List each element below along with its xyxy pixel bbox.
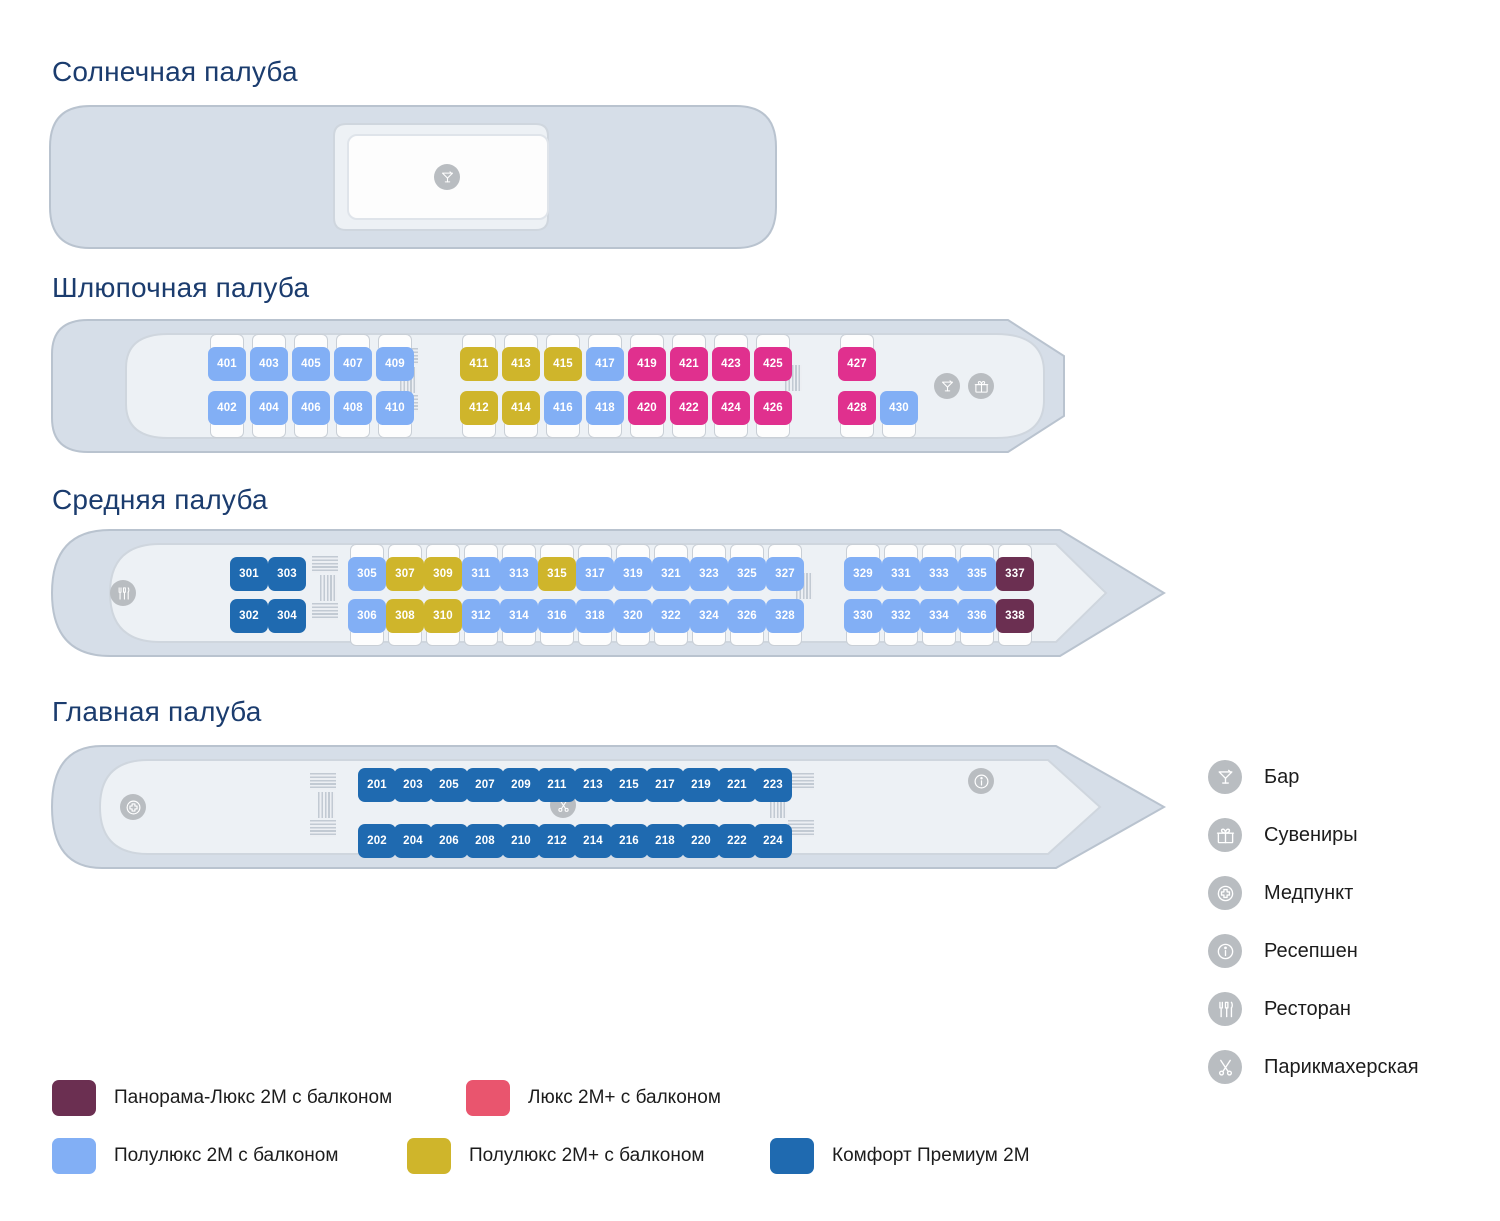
cabin-balcony — [540, 631, 574, 646]
cabin-307[interactable]: 307 — [386, 557, 424, 591]
cabin-215[interactable]: 215 — [610, 768, 648, 802]
hull-outline-sun — [48, 104, 778, 250]
deck-title-sun: Солнечная палуба — [52, 56, 298, 88]
cabin-309[interactable]: 309 — [424, 557, 462, 591]
cabin-balcony — [846, 631, 880, 646]
deck-title-main: Главная палуба — [52, 696, 262, 728]
legend-swatch — [52, 1138, 96, 1174]
facility-legend-row-restaurant: Ресторан — [1208, 980, 1419, 1038]
cabin-301[interactable]: 301 — [230, 557, 268, 591]
cabin-balcony — [714, 423, 748, 438]
reception-icon — [1208, 934, 1242, 968]
cabin-305[interactable]: 305 — [348, 557, 386, 591]
cabin-405[interactable]: 405 — [292, 347, 330, 381]
medical-icon — [1208, 876, 1242, 910]
cabin-balcony — [960, 631, 994, 646]
cabin-411[interactable]: 411 — [460, 347, 498, 381]
cabin-336[interactable]: 336 — [958, 599, 996, 633]
cabin-414[interactable]: 414 — [502, 391, 540, 425]
cabin-balcony — [252, 423, 286, 438]
legend-row-2: Полулюкс 2М с балконом Полулюкс 2М+ с ба… — [52, 1138, 1112, 1196]
cabin-balcony — [462, 423, 496, 438]
legend-label: Полулюкс 2М с балконом — [114, 1145, 338, 1167]
cabin-323[interactable]: 323 — [690, 557, 728, 591]
cabin-balcony — [210, 423, 244, 438]
souvenirs-icon — [1208, 818, 1242, 852]
cabin-balcony — [840, 423, 874, 438]
cabin-balcony — [388, 631, 422, 646]
legend-item-lux-plus[interactable]: Люкс 2М+ с балконом — [466, 1080, 721, 1116]
cabin-balcony — [692, 631, 726, 646]
cabin-308[interactable]: 308 — [386, 599, 424, 633]
legend-swatch — [466, 1080, 510, 1116]
cabin-326[interactable]: 326 — [728, 599, 766, 633]
cabin-223[interactable]: 223 — [754, 768, 792, 802]
restaurant-icon[interactable] — [110, 580, 136, 606]
legend-item-panorama-lux[interactable]: Панорама-Люкс 2М с балконом — [52, 1080, 392, 1116]
facility-legend-label: Бар — [1264, 766, 1299, 789]
cabin-424[interactable]: 424 — [712, 391, 750, 425]
facility-legend: БарСувенирыМедпунктРесепшенРесторанПарик… — [1208, 748, 1419, 1096]
stairwell-marking — [318, 792, 335, 818]
cabin-201[interactable]: 201 — [358, 768, 396, 802]
cabin-412[interactable]: 412 — [460, 391, 498, 425]
cabin-318[interactable]: 318 — [576, 599, 614, 633]
cabin-class-legend: Панорама-Люкс 2М с балконом Люкс 2М+ с б… — [52, 1080, 1112, 1196]
cabin-210[interactable]: 210 — [502, 824, 540, 858]
legend-swatch — [770, 1138, 814, 1174]
cabin-409[interactable]: 409 — [376, 347, 414, 381]
cabin-430[interactable]: 430 — [880, 391, 918, 425]
cabin-204[interactable]: 204 — [394, 824, 432, 858]
cabin-207[interactable]: 207 — [466, 768, 504, 802]
cabin-310[interactable]: 310 — [424, 599, 462, 633]
cabin-402[interactable]: 402 — [208, 391, 246, 425]
facility-legend-label: Медпункт — [1264, 882, 1353, 905]
legend-swatch — [407, 1138, 451, 1174]
cabin-407[interactable]: 407 — [334, 347, 372, 381]
legend-label: Полулюкс 2М+ с балконом — [469, 1145, 704, 1167]
cabin-balcony — [294, 423, 328, 438]
bar-icon[interactable] — [434, 164, 460, 190]
cabin-219[interactable]: 219 — [682, 768, 720, 802]
cabin-balcony — [616, 631, 650, 646]
cabin-401[interactable]: 401 — [208, 347, 246, 381]
bar-icon — [1208, 760, 1242, 794]
cabin-316[interactable]: 316 — [538, 599, 576, 633]
cabin-325[interactable]: 325 — [728, 557, 766, 591]
hairdresser-icon — [1208, 1050, 1242, 1084]
cabin-203[interactable]: 203 — [394, 768, 432, 802]
facility-legend-row-bar: Бар — [1208, 748, 1419, 806]
cabin-balcony — [756, 423, 790, 438]
cabin-417[interactable]: 417 — [586, 347, 624, 381]
cabin-balcony — [378, 423, 412, 438]
cabin-206[interactable]: 206 — [430, 824, 468, 858]
cabin-333[interactable]: 333 — [920, 557, 958, 591]
cabin-406[interactable]: 406 — [292, 391, 330, 425]
cabin-415[interactable]: 415 — [544, 347, 582, 381]
cabin-212[interactable]: 212 — [538, 824, 576, 858]
cabin-319[interactable]: 319 — [614, 557, 652, 591]
cabin-320[interactable]: 320 — [614, 599, 652, 633]
restaurant-icon — [1208, 992, 1242, 1026]
cabin-304[interactable]: 304 — [268, 599, 306, 633]
bar-icon[interactable] — [934, 373, 960, 399]
facility-legend-row-medical: Медпункт — [1208, 864, 1419, 922]
medical-icon[interactable] — [120, 794, 146, 820]
cabin-balcony — [426, 631, 460, 646]
cabin-balcony — [504, 423, 538, 438]
legend-row-1: Панорама-Люкс 2М с балконом Люкс 2М+ с б… — [52, 1080, 1112, 1138]
cabin-balcony — [730, 631, 764, 646]
cabin-balcony — [672, 423, 706, 438]
cabin-216[interactable]: 216 — [610, 824, 648, 858]
cabin-205[interactable]: 205 — [430, 768, 468, 802]
cabin-224[interactable]: 224 — [754, 824, 792, 858]
facility-legend-label: Парикмахерская — [1264, 1056, 1419, 1079]
legend-label: Комфорт Премиум 2М — [832, 1145, 1030, 1167]
stairwell-marking — [320, 575, 337, 601]
cabin-balcony — [882, 423, 916, 438]
cabin-413[interactable]: 413 — [502, 347, 540, 381]
facility-legend-label: Ресепшен — [1264, 940, 1358, 963]
cabin-338[interactable]: 338 — [996, 599, 1034, 633]
cabin-328[interactable]: 328 — [766, 599, 804, 633]
souvenirs-icon[interactable] — [968, 373, 994, 399]
cabin-220[interactable]: 220 — [682, 824, 720, 858]
cabin-balcony — [502, 631, 536, 646]
cabin-335[interactable]: 335 — [958, 557, 996, 591]
legend-item-semi-lux-plus[interactable]: Полулюкс 2М+ с балконом — [407, 1138, 704, 1174]
cabin-403[interactable]: 403 — [250, 347, 288, 381]
cabin-312[interactable]: 312 — [462, 599, 500, 633]
cabin-327[interactable]: 327 — [766, 557, 804, 591]
cabin-balcony — [630, 423, 664, 438]
cabin-416[interactable]: 416 — [544, 391, 582, 425]
cabin-334[interactable]: 334 — [920, 599, 958, 633]
cabin-426[interactable]: 426 — [754, 391, 792, 425]
cabin-419[interactable]: 419 — [628, 347, 666, 381]
cabin-303[interactable]: 303 — [268, 557, 306, 591]
deck-sun-deck — [48, 104, 778, 250]
cabin-balcony — [922, 631, 956, 646]
cabin-329[interactable]: 329 — [844, 557, 882, 591]
facility-legend-row-souvenirs: Сувениры — [1208, 806, 1419, 864]
cabin-208[interactable]: 208 — [466, 824, 504, 858]
legend-item-semi-lux[interactable]: Полулюкс 2М с балконом — [52, 1138, 338, 1174]
cabin-222[interactable]: 222 — [718, 824, 756, 858]
cabin-balcony — [654, 631, 688, 646]
reception-icon[interactable] — [968, 768, 994, 794]
facility-legend-row-hairdresser: Парикмахерская — [1208, 1038, 1419, 1096]
cabin-423[interactable]: 423 — [712, 347, 750, 381]
legend-label: Люкс 2М+ с балконом — [528, 1087, 721, 1109]
cabin-324[interactable]: 324 — [690, 599, 728, 633]
cabin-421[interactable]: 421 — [670, 347, 708, 381]
cabin-330[interactable]: 330 — [844, 599, 882, 633]
cabin-331[interactable]: 331 — [882, 557, 920, 591]
deck-main-deck: 201203205207209211213215217219221223 202… — [48, 744, 1168, 870]
cabin-balcony — [336, 423, 370, 438]
cabin-322[interactable]: 322 — [652, 599, 690, 633]
cabin-306[interactable]: 306 — [348, 599, 386, 633]
legend-item-comfort-premium[interactable]: Комфорт Премиум 2М — [770, 1138, 1030, 1174]
cabin-321[interactable]: 321 — [652, 557, 690, 591]
cabin-427[interactable]: 427 — [838, 347, 876, 381]
cabin-218[interactable]: 218 — [646, 824, 684, 858]
cabin-balcony — [350, 631, 384, 646]
cabin-balcony — [768, 631, 802, 646]
cabin-313[interactable]: 313 — [500, 557, 538, 591]
cabin-balcony — [884, 631, 918, 646]
cabin-314[interactable]: 314 — [500, 599, 538, 633]
deck-boat-deck: 4014034054074094114134154174194214234254… — [48, 318, 1068, 454]
cabin-217[interactable]: 217 — [646, 768, 684, 802]
cabin-425[interactable]: 425 — [754, 347, 792, 381]
cabin-221[interactable]: 221 — [718, 768, 756, 802]
stairwell-marking — [312, 603, 338, 620]
cabin-balcony — [546, 423, 580, 438]
cabin-213[interactable]: 213 — [574, 768, 612, 802]
cabin-418[interactable]: 418 — [586, 391, 624, 425]
stairwell-marking — [310, 773, 336, 790]
legend-swatch — [52, 1080, 96, 1116]
cabin-410[interactable]: 410 — [376, 391, 414, 425]
stairwell-marking — [310, 820, 336, 837]
cabin-211[interactable]: 211 — [538, 768, 576, 802]
facility-legend-row-reception: Ресепшен — [1208, 922, 1419, 980]
facility-legend-label: Ресторан — [1264, 998, 1351, 1021]
cabin-209[interactable]: 209 — [502, 768, 540, 802]
cabin-balcony — [588, 423, 622, 438]
legend-label: Панорама-Люкс 2М с балконом — [114, 1087, 392, 1109]
cabin-428[interactable]: 428 — [838, 391, 876, 425]
deck-title-middle: Средняя палуба — [52, 484, 268, 516]
cabin-311[interactable]: 311 — [462, 557, 500, 591]
deck-middle-deck: 3013033053073093113133153173193213233253… — [48, 528, 1168, 658]
cabin-337[interactable]: 337 — [996, 557, 1034, 591]
cabin-315[interactable]: 315 — [538, 557, 576, 591]
cabin-420[interactable]: 420 — [628, 391, 666, 425]
cabin-302[interactable]: 302 — [230, 599, 268, 633]
cabin-214[interactable]: 214 — [574, 824, 612, 858]
cabin-balcony — [464, 631, 498, 646]
facility-legend-label: Сувениры — [1264, 824, 1358, 847]
cabin-408[interactable]: 408 — [334, 391, 372, 425]
cabin-balcony — [998, 631, 1032, 646]
cabin-202[interactable]: 202 — [358, 824, 396, 858]
cabin-422[interactable]: 422 — [670, 391, 708, 425]
deck-title-boat: Шлюпочная палуба — [52, 272, 309, 304]
cabin-balcony — [578, 631, 612, 646]
stairwell-marking — [312, 556, 338, 573]
cabin-317[interactable]: 317 — [576, 557, 614, 591]
cabin-404[interactable]: 404 — [250, 391, 288, 425]
cabin-332[interactable]: 332 — [882, 599, 920, 633]
